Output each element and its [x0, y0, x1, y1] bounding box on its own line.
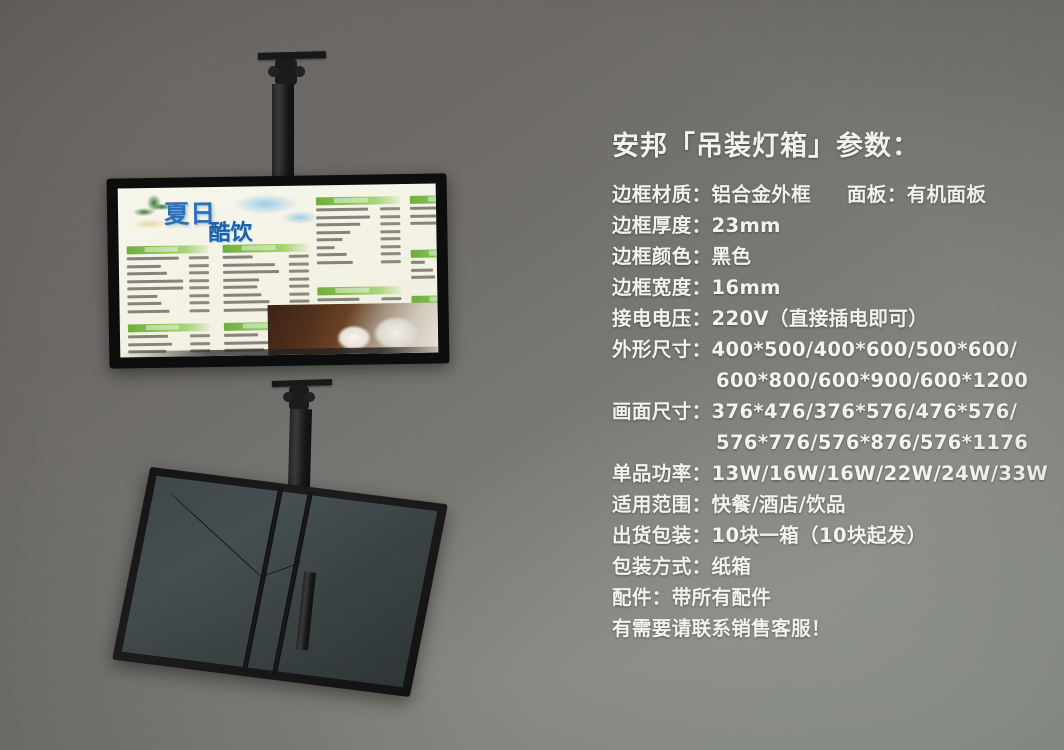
- spec-label: 边框厚度：: [612, 214, 712, 237]
- spec-extra-value: 有机面板: [907, 183, 987, 206]
- spec-line-outer-size: 外形尺寸：400*500/400*600/500*600/: [612, 334, 1052, 365]
- spec-value: 13W/16W/16W/22W/24W/33W: [712, 462, 1049, 485]
- spec-label: 适用范围：: [612, 493, 712, 516]
- menu-row: [127, 254, 209, 261]
- spec-title: 安邦「吊装灯箱」参数：: [612, 124, 1052, 163]
- menu-row: [127, 300, 209, 307]
- spec-label: 出货包装：: [612, 524, 712, 547]
- menu-section-6: [410, 195, 438, 227]
- spec-line-application: 适用范围：快餐/酒店/饮品: [612, 489, 1052, 520]
- mount-pole-top: [272, 84, 294, 180]
- spec-value: 带所有配件: [672, 586, 772, 609]
- spec-value: 纸箱: [712, 555, 752, 578]
- menu-row: [127, 285, 209, 292]
- spec-line-outer-size-cont: 600*800/600*900/600*1200: [612, 365, 1052, 396]
- swivel-knob-middle-right: [305, 392, 315, 402]
- section-header: [411, 249, 439, 258]
- spec-line-frame-color: 边框颜色：黑色: [612, 241, 1052, 272]
- specification-block: 安邦「吊装灯箱」参数： 边框材质：铝合金外框面板：有机面板 边框厚度：23mm …: [612, 124, 1052, 644]
- swivel-knob-middle-left: [283, 392, 293, 402]
- menu-row: [317, 259, 401, 267]
- spec-line-accessories: 配件：带所有配件: [612, 582, 1052, 613]
- menu-row: [317, 243, 401, 251]
- poster-hero-graphic: 夏日 酷饮: [122, 187, 315, 244]
- lightbox-front-unit: 夏日 酷饮: [107, 173, 450, 368]
- menu-row: [128, 340, 210, 347]
- section-header: [410, 195, 438, 204]
- menu-section-1: [127, 245, 210, 315]
- section-rows: [411, 258, 438, 281]
- menu-row: [127, 277, 209, 284]
- spec-label: 包装方式：: [612, 555, 712, 578]
- spec-label: 外形尺寸：: [612, 338, 712, 361]
- spec-line-frame-material: 边框材质：铝合金外框面板：有机面板: [612, 179, 1052, 210]
- menu-row: [223, 268, 309, 276]
- spec-label: 配件：: [612, 586, 672, 609]
- spec-value: 376*476/376*576/476*576/: [712, 400, 1018, 423]
- swivel-knob-top-left: [268, 66, 279, 77]
- menu-row: [316, 221, 400, 229]
- spec-label: 边框颜色：: [612, 245, 712, 268]
- spec-label: 边框材质：: [612, 183, 712, 206]
- menu-row: [223, 276, 309, 284]
- menu-poster: 夏日 酷饮: [118, 184, 439, 358]
- spec-line-shipping-package: 出货包装：10块一箱（10块起发）: [612, 520, 1052, 551]
- menu-section-5: [316, 196, 401, 266]
- menu-row: [411, 258, 438, 265]
- spec-line-image-size: 画面尺寸：376*476/376*576/476*576/: [612, 396, 1052, 427]
- spec-line-power: 单品功率：13W/16W/16W/22W/24W/33W: [612, 458, 1052, 489]
- menu-row: [127, 270, 209, 277]
- menu-row: [223, 291, 309, 299]
- menu-row: [316, 205, 400, 213]
- spec-line-frame-thickness: 边框厚度：23mm: [612, 210, 1052, 241]
- menu-section-7: [411, 249, 439, 281]
- menu-row: [128, 332, 210, 339]
- spec-value: 10块一箱（10块起发）: [712, 524, 927, 547]
- section-rows: [127, 254, 210, 315]
- section-header: [223, 244, 309, 253]
- spec-value: 400*500/400*600/500*600/: [712, 338, 1018, 361]
- menu-row: [411, 273, 438, 280]
- spec-value: 有需要请联系销售客服！: [612, 617, 831, 640]
- spec-label: 单品功率：: [612, 462, 712, 485]
- spec-label: 边框宽度：: [612, 276, 712, 299]
- menu-row: [317, 295, 401, 303]
- spec-value: 23mm: [712, 214, 781, 237]
- spec-value: 600*800/600*900/600*1200: [716, 369, 1028, 392]
- section-rows: [410, 204, 438, 227]
- spec-line-frame-width: 边框宽度：16mm: [612, 272, 1052, 303]
- menu-section-2: [223, 244, 310, 314]
- spec-value: 16mm: [712, 276, 781, 299]
- menu-row: [223, 260, 309, 268]
- section-header: [317, 286, 401, 295]
- spec-value: 快餐/酒店/饮品: [712, 493, 846, 516]
- section-rows: [316, 205, 401, 266]
- spec-line-contact-note: 有需要请联系销售客服！: [612, 613, 1052, 644]
- menu-row: [410, 204, 438, 211]
- spec-extra-label: 面板：: [847, 183, 907, 206]
- menu-row: [127, 292, 209, 299]
- spec-value: 铝合金外框: [712, 183, 812, 206]
- swivel-knob-top-right: [294, 66, 305, 77]
- section-header: [128, 323, 210, 332]
- spec-label: 画面尺寸：: [612, 400, 712, 423]
- menu-row: [316, 213, 400, 221]
- menu-row: [411, 266, 438, 273]
- menu-row: [223, 253, 309, 261]
- menu-row: [317, 251, 401, 259]
- lightbox-rear-unit: [112, 467, 448, 697]
- spec-value: 576*776/576*876/576*1176: [716, 431, 1028, 454]
- spec-value: 黑色: [712, 245, 752, 268]
- spec-line-packing-method: 包装方式：纸箱: [612, 551, 1052, 582]
- spec-line-image-size-cont: 576*776/576*876/576*1176: [612, 427, 1052, 458]
- section-header: [316, 196, 400, 205]
- section-header: [127, 245, 209, 254]
- menu-row: [316, 228, 400, 236]
- poster-title-line2: 酷饮: [208, 214, 253, 247]
- menu-row: [410, 219, 438, 226]
- spec-line-voltage: 接电电压：220V（直接插电即可）: [612, 303, 1052, 334]
- menu-row: [127, 262, 209, 269]
- product-photo-canvas: 夏日 酷饮: [0, 0, 1064, 750]
- menu-row: [316, 236, 400, 244]
- spec-label: 接电电压：: [612, 307, 712, 330]
- menu-row: [128, 308, 210, 315]
- menu-row: [410, 212, 438, 219]
- spec-value: 220V（直接插电即可）: [712, 307, 929, 330]
- menu-row: [223, 283, 309, 291]
